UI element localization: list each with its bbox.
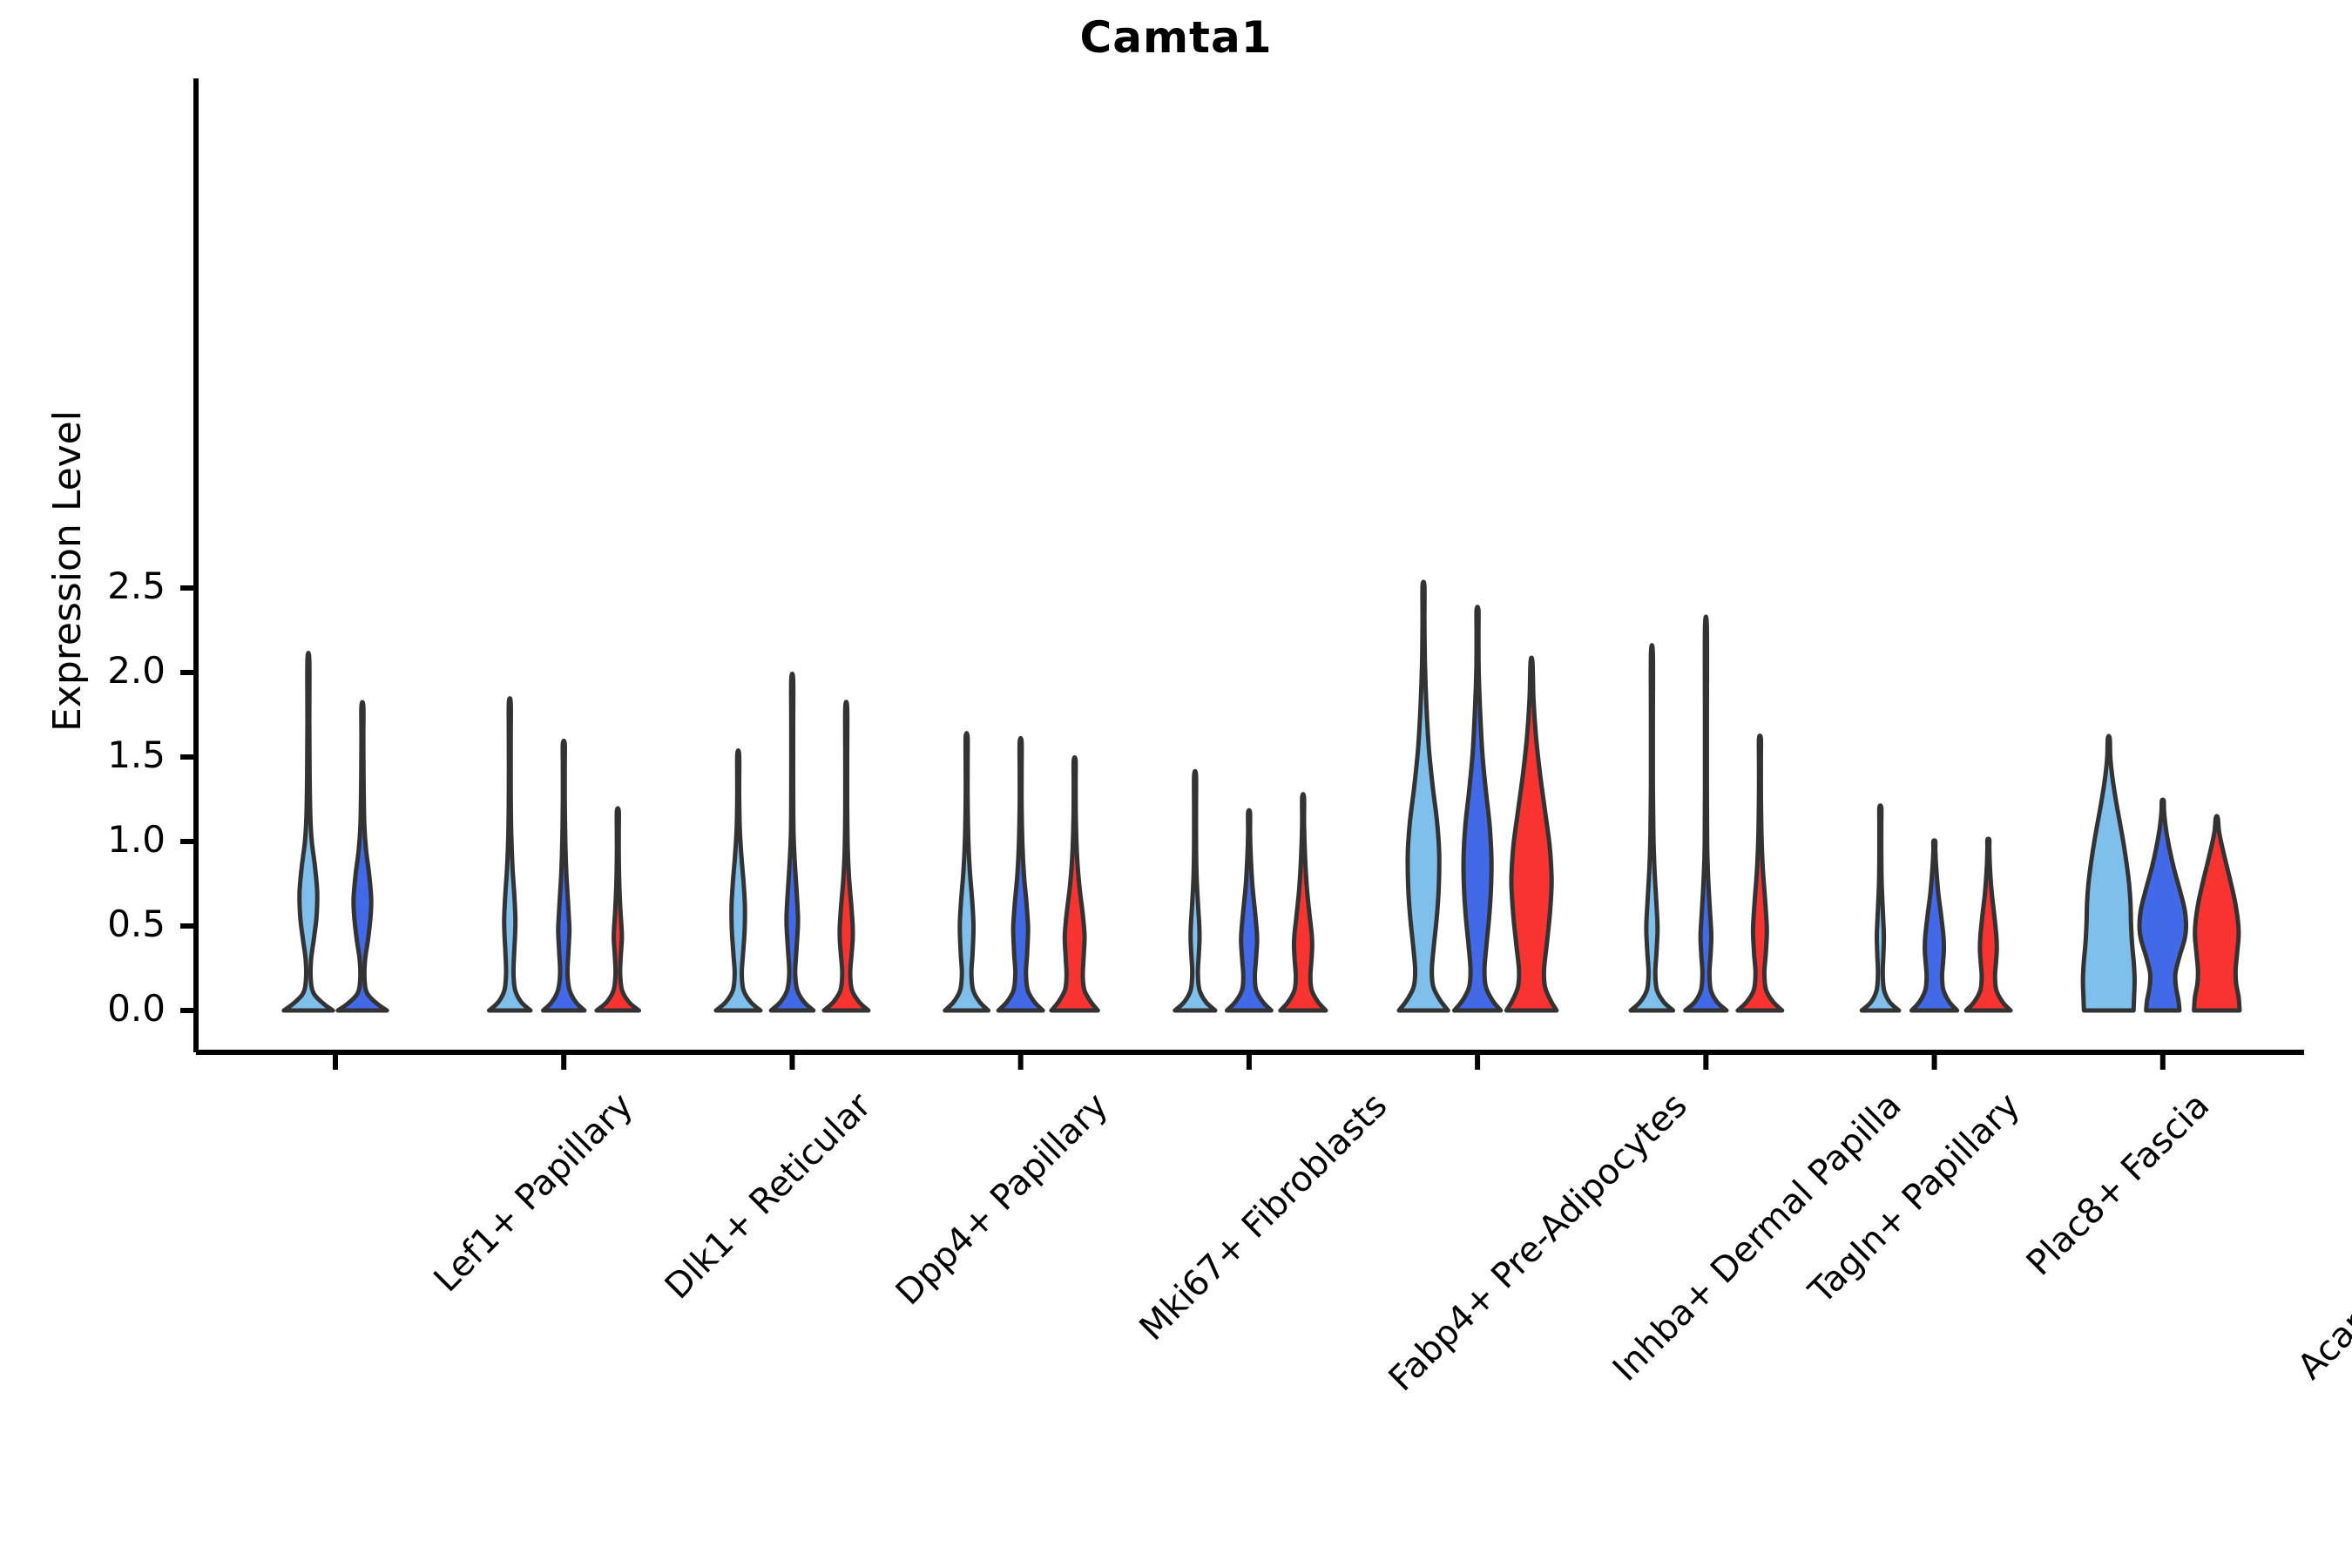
violin-shape bbox=[1506, 658, 1557, 1010]
violin-shape bbox=[1051, 757, 1098, 1010]
violin-shape bbox=[1862, 806, 1899, 1010]
violin-shape bbox=[543, 740, 584, 1010]
violin-shape bbox=[1454, 607, 1500, 1010]
violin-shape bbox=[338, 702, 387, 1010]
violin-chart-canvas bbox=[0, 0, 2352, 1568]
violin-shape bbox=[1281, 794, 1326, 1010]
violin-shape bbox=[1911, 841, 1957, 1010]
violin-shape bbox=[824, 702, 868, 1010]
violin-shape bbox=[1631, 645, 1673, 1010]
violin-shape bbox=[1738, 736, 1782, 1010]
violin-shape bbox=[1966, 839, 2011, 1010]
violin-shape bbox=[2083, 736, 2134, 1010]
violin-shape bbox=[1227, 810, 1271, 1010]
violin-shape bbox=[1175, 771, 1215, 1010]
violin-shape bbox=[771, 673, 814, 1010]
violins-layer bbox=[284, 582, 2240, 1010]
violin-shape bbox=[2139, 800, 2186, 1010]
violin-shape bbox=[489, 699, 530, 1010]
violin-plot-figure: Camta1 Expression Level 0.00.51.01.52.02… bbox=[0, 0, 2352, 1568]
violin-shape bbox=[1686, 617, 1727, 1010]
violin-shape bbox=[2194, 816, 2240, 1010]
violin-shape bbox=[1399, 582, 1448, 1010]
violin-shape bbox=[998, 738, 1043, 1010]
violin-shape bbox=[284, 652, 333, 1010]
violin-shape bbox=[597, 808, 639, 1010]
violin-shape bbox=[945, 733, 989, 1010]
violin-shape bbox=[716, 750, 760, 1010]
